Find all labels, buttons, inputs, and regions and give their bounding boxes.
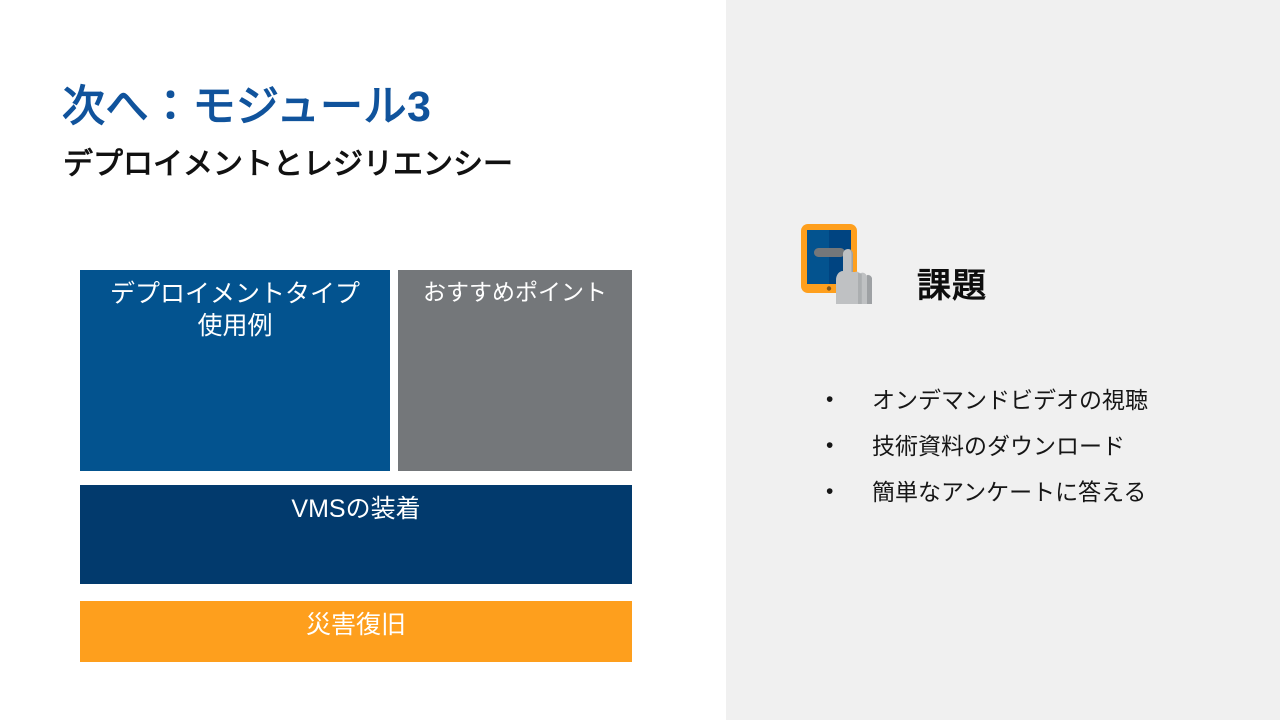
diagram-box-label-line1: 災害復旧	[80, 609, 632, 641]
diagram-box-label-line2: 使用例	[80, 310, 390, 342]
diagram-box-disaster-recovery: 災害復旧	[80, 601, 632, 662]
slide-canvas: 次へ：モジュール3 デプロイメントとレジリエンシー デプロイメントタイプ 使用例…	[0, 0, 1280, 720]
diagram-box-deployment-types: デプロイメントタイプ 使用例	[80, 270, 390, 471]
list-item: • 技術資料のダウンロード	[820, 432, 1250, 478]
diagram-box-vms-install: VMSの装着	[80, 485, 632, 584]
list-item-label: 簡単なアンケートに答える	[872, 478, 1146, 507]
tablet-hand-tap-icon	[798, 220, 878, 306]
diagram-box-recommended-points: おすすめポイント	[398, 270, 632, 471]
diagram-box-label-line1: VMSの装着	[80, 493, 632, 525]
page-title: 次へ：モジュール3	[62, 83, 431, 132]
diagram-box-label-line1: デプロイメントタイプ	[80, 278, 390, 310]
panel-heading: 課題	[917, 258, 987, 307]
list-item-label: オンデマンドビデオの視聴	[872, 386, 1148, 415]
list-item: • 簡単なアンケートに答える	[820, 478, 1250, 524]
bullet-marker-icon: •	[820, 432, 872, 460]
bullet-marker-icon: •	[820, 386, 872, 414]
right-panel	[726, 0, 1280, 720]
task-bullet-list: • オンデマンドビデオの視聴 • 技術資料のダウンロード • 簡単なアンケートに…	[820, 386, 1250, 524]
list-item-label: 技術資料のダウンロード	[872, 432, 1125, 461]
bullet-marker-icon: •	[820, 478, 872, 506]
list-item: • オンデマンドビデオの視聴	[820, 386, 1250, 432]
page-subtitle: デプロイメントとレジリエンシー	[63, 147, 513, 183]
diagram-box-label-line1: おすすめポイント	[398, 278, 632, 307]
